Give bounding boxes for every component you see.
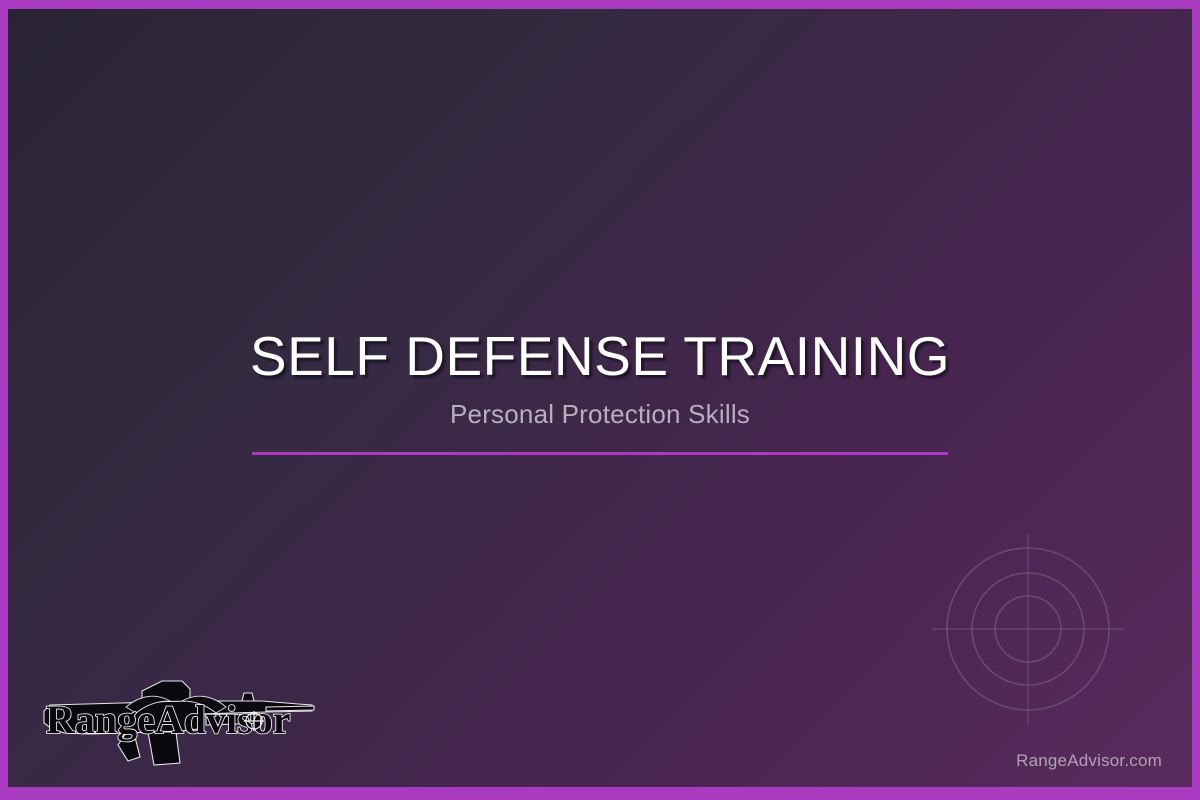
page-subtitle: Personal Protection Skills bbox=[8, 400, 1192, 429]
crosshair-ring-inner bbox=[995, 596, 1061, 662]
page-title: SELF DEFENSE TRAINING bbox=[8, 327, 1192, 386]
title-block: SELF DEFENSE TRAINING Personal Protectio… bbox=[8, 327, 1192, 429]
crosshair-target-decoration bbox=[928, 529, 1128, 729]
presentation-slide: SELF DEFENSE TRAINING Personal Protectio… bbox=[0, 0, 1200, 800]
crosshair-ring-outer bbox=[947, 548, 1109, 710]
slide-canvas: SELF DEFENSE TRAINING Personal Protectio… bbox=[8, 9, 1192, 787]
accent-divider bbox=[252, 452, 948, 455]
crosshair-ring-middle bbox=[972, 573, 1084, 685]
brand-logo: RangeAdvisor bbox=[30, 671, 320, 771]
footer-url: RangeAdvisor.com bbox=[1016, 751, 1162, 771]
